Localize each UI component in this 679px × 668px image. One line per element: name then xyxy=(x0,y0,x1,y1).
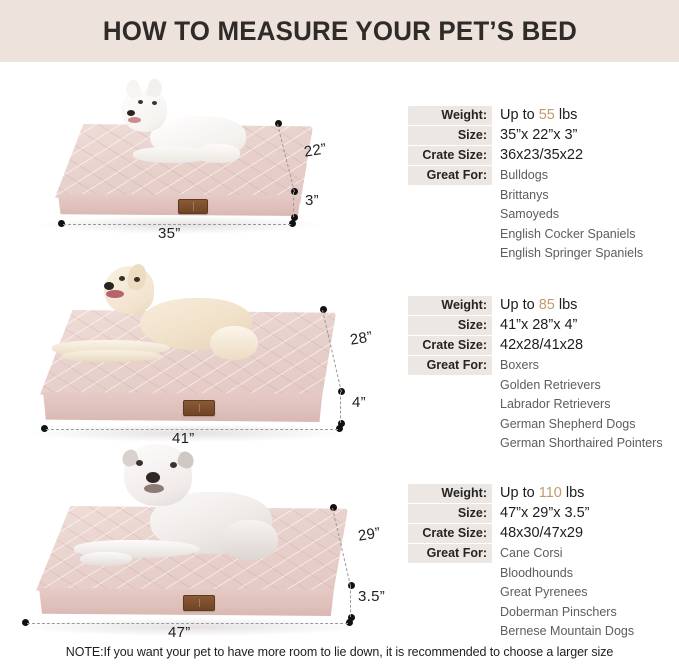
brand-tag xyxy=(183,595,215,611)
breed-item: Golden Retrievers xyxy=(500,376,663,396)
spec-value-crate-size: 42x28/41x28 xyxy=(492,336,583,355)
dog-eye-left xyxy=(138,100,143,104)
dim-line-height xyxy=(350,586,351,617)
breed-list: Bulldogs Brittanys Samoyeds English Cock… xyxy=(492,166,643,264)
spec-row-size: Size: 41”x 28”x 4” xyxy=(408,316,676,335)
dim-label-width: 35” xyxy=(158,225,181,242)
spec-row-crate-size: Crate Size: 36x23/35x22 xyxy=(408,146,676,165)
dog-eye-right xyxy=(170,462,177,468)
bed-illustration-small: 22” 3” 35” xyxy=(0,70,400,248)
spec-row-weight: Weight: Up to 55 lbs xyxy=(408,106,676,125)
dim-label-height: 3” xyxy=(305,192,319,209)
dim-label-height: 4” xyxy=(352,394,366,411)
spec-value-size: 41”x 28”x 4” xyxy=(492,316,577,335)
spec-row-weight: Weight: Up to 85 lbs xyxy=(408,296,676,315)
dog-nose xyxy=(127,110,135,116)
spec-row-great-for: Great For: Bulldogs Brittanys Samoyeds E… xyxy=(408,166,676,264)
dog-front-paw xyxy=(62,350,162,362)
weight-suffix: lbs xyxy=(559,107,578,123)
dog-eye-right xyxy=(152,101,157,105)
header-banner: HOW TO MEASURE YOUR PET’S BED xyxy=(0,0,679,62)
breed-item: Great Pyrenees xyxy=(500,583,634,603)
product-row-small: 22” 3” 35” Weight: Up to 55 lbs Size: 35… xyxy=(0,70,679,248)
spec-table-medium: Weight: Up to 85 lbs Size: 41”x 28”x 4” … xyxy=(408,296,676,455)
dim-label-height: 3.5” xyxy=(358,588,385,605)
dim-label-depth: 29” xyxy=(357,524,382,544)
weight-suffix: lbs xyxy=(559,297,578,313)
breed-item: Bloodhounds xyxy=(500,564,634,584)
spec-label-size: Size: xyxy=(408,316,492,335)
weight-number: 110 xyxy=(539,485,562,501)
dog-tongue xyxy=(106,290,124,298)
dog-nose xyxy=(104,282,114,290)
breed-item: Boxers xyxy=(500,356,663,376)
spec-row-size: Size: 47”x 29”x 3.5” xyxy=(408,504,676,523)
spec-label-great-for: Great For: xyxy=(408,356,492,375)
spec-label-crate-size: Crate Size: xyxy=(408,146,492,165)
spec-label-weight: Weight: xyxy=(408,296,492,315)
spec-value-size: 47”x 29”x 3.5” xyxy=(492,504,589,523)
dog-muzzle xyxy=(144,484,164,493)
bed-illustration-large: 29” 3.5” 47” xyxy=(0,436,400,636)
dog-front-paw xyxy=(80,552,132,566)
brand-tag xyxy=(178,199,208,214)
dog-hind-leg xyxy=(210,326,258,360)
spec-label-great-for: Great For: xyxy=(408,544,492,563)
product-row-large: 29” 3.5” 47” Weight: Up to 110 lbs Size:… xyxy=(0,436,679,636)
spec-label-crate-size: Crate Size: xyxy=(408,336,492,355)
spec-value-crate-size: 48x30/47x29 xyxy=(492,524,583,543)
spec-table-small: Weight: Up to 55 lbs Size: 35”x 22”x 3” … xyxy=(408,106,676,265)
spec-value-weight: Up to 85 lbs xyxy=(492,296,577,315)
spec-value-size: 35”x 22”x 3” xyxy=(492,126,577,145)
spec-table-large: Weight: Up to 110 lbs Size: 47”x 29”x 3.… xyxy=(408,484,676,643)
dog-hind-leg xyxy=(222,520,278,560)
breed-list: Cane Corsi Bloodhounds Great Pyrenees Do… xyxy=(492,544,634,642)
spec-label-size: Size: xyxy=(408,504,492,523)
weight-prefix: Up to xyxy=(500,297,535,313)
dim-label-depth: 28” xyxy=(349,328,374,348)
weight-prefix: Up to xyxy=(500,107,535,123)
bed-shadow xyxy=(24,618,360,636)
spec-label-size: Size: xyxy=(408,126,492,145)
spec-label-crate-size: Crate Size: xyxy=(408,524,492,543)
footer-note: NOTE:If you want your pet to have more r… xyxy=(0,645,679,659)
spec-value-crate-size: 36x23/35x22 xyxy=(492,146,583,165)
dog-eye-left xyxy=(119,276,125,281)
breed-item: Samoyeds xyxy=(500,205,643,225)
weight-number: 85 xyxy=(539,297,555,313)
dim-label-depth: 22” xyxy=(303,140,328,160)
spec-row-crate-size: Crate Size: 48x30/47x29 xyxy=(408,524,676,543)
breed-item: Bulldogs xyxy=(500,166,643,186)
dog-eye-right xyxy=(134,277,140,282)
dog-nose xyxy=(146,472,160,483)
spec-row-great-for: Great For: Cane Corsi Bloodhounds Great … xyxy=(408,544,676,642)
weight-suffix: lbs xyxy=(566,485,585,501)
brand-tag xyxy=(183,400,215,416)
breed-item: Bernese Mountain Dogs xyxy=(500,622,634,642)
spec-label-great-for: Great For: xyxy=(408,166,492,185)
dog-hind-leg xyxy=(196,144,240,163)
weight-prefix: Up to xyxy=(500,485,535,501)
dim-line-height xyxy=(340,392,341,423)
spec-label-weight: Weight: xyxy=(408,106,492,125)
page-title: HOW TO MEASURE YOUR PET’S BED xyxy=(102,16,576,47)
spec-value-weight: Up to 110 lbs xyxy=(492,484,584,503)
breed-item: Doberman Pinschers xyxy=(500,603,634,623)
dog-tongue xyxy=(128,117,141,123)
weight-number: 55 xyxy=(539,107,555,123)
dog-eye-left xyxy=(136,460,143,466)
breed-item: Cane Corsi xyxy=(500,544,634,564)
breed-item: Labrador Retrievers xyxy=(500,395,663,415)
spec-value-weight: Up to 55 lbs xyxy=(492,106,577,125)
spec-row-weight: Weight: Up to 110 lbs xyxy=(408,484,676,503)
dim-label-width: 47” xyxy=(168,624,191,641)
product-row-medium: 28” 4” 41” Weight: Up to 85 lbs Size: 41… xyxy=(0,252,679,432)
spec-row-size: Size: 35”x 22”x 3” xyxy=(408,126,676,145)
spec-label-weight: Weight: xyxy=(408,484,492,503)
bed-illustration-medium: 28” 4” 41” xyxy=(0,252,400,432)
breed-item: English Cocker Spaniels xyxy=(500,225,643,245)
spec-row-crate-size: Crate Size: 42x28/41x28 xyxy=(408,336,676,355)
dim-line-height xyxy=(293,192,294,217)
breed-item: Brittanys xyxy=(500,186,643,206)
breed-item: German Shepherd Dogs xyxy=(500,415,663,435)
